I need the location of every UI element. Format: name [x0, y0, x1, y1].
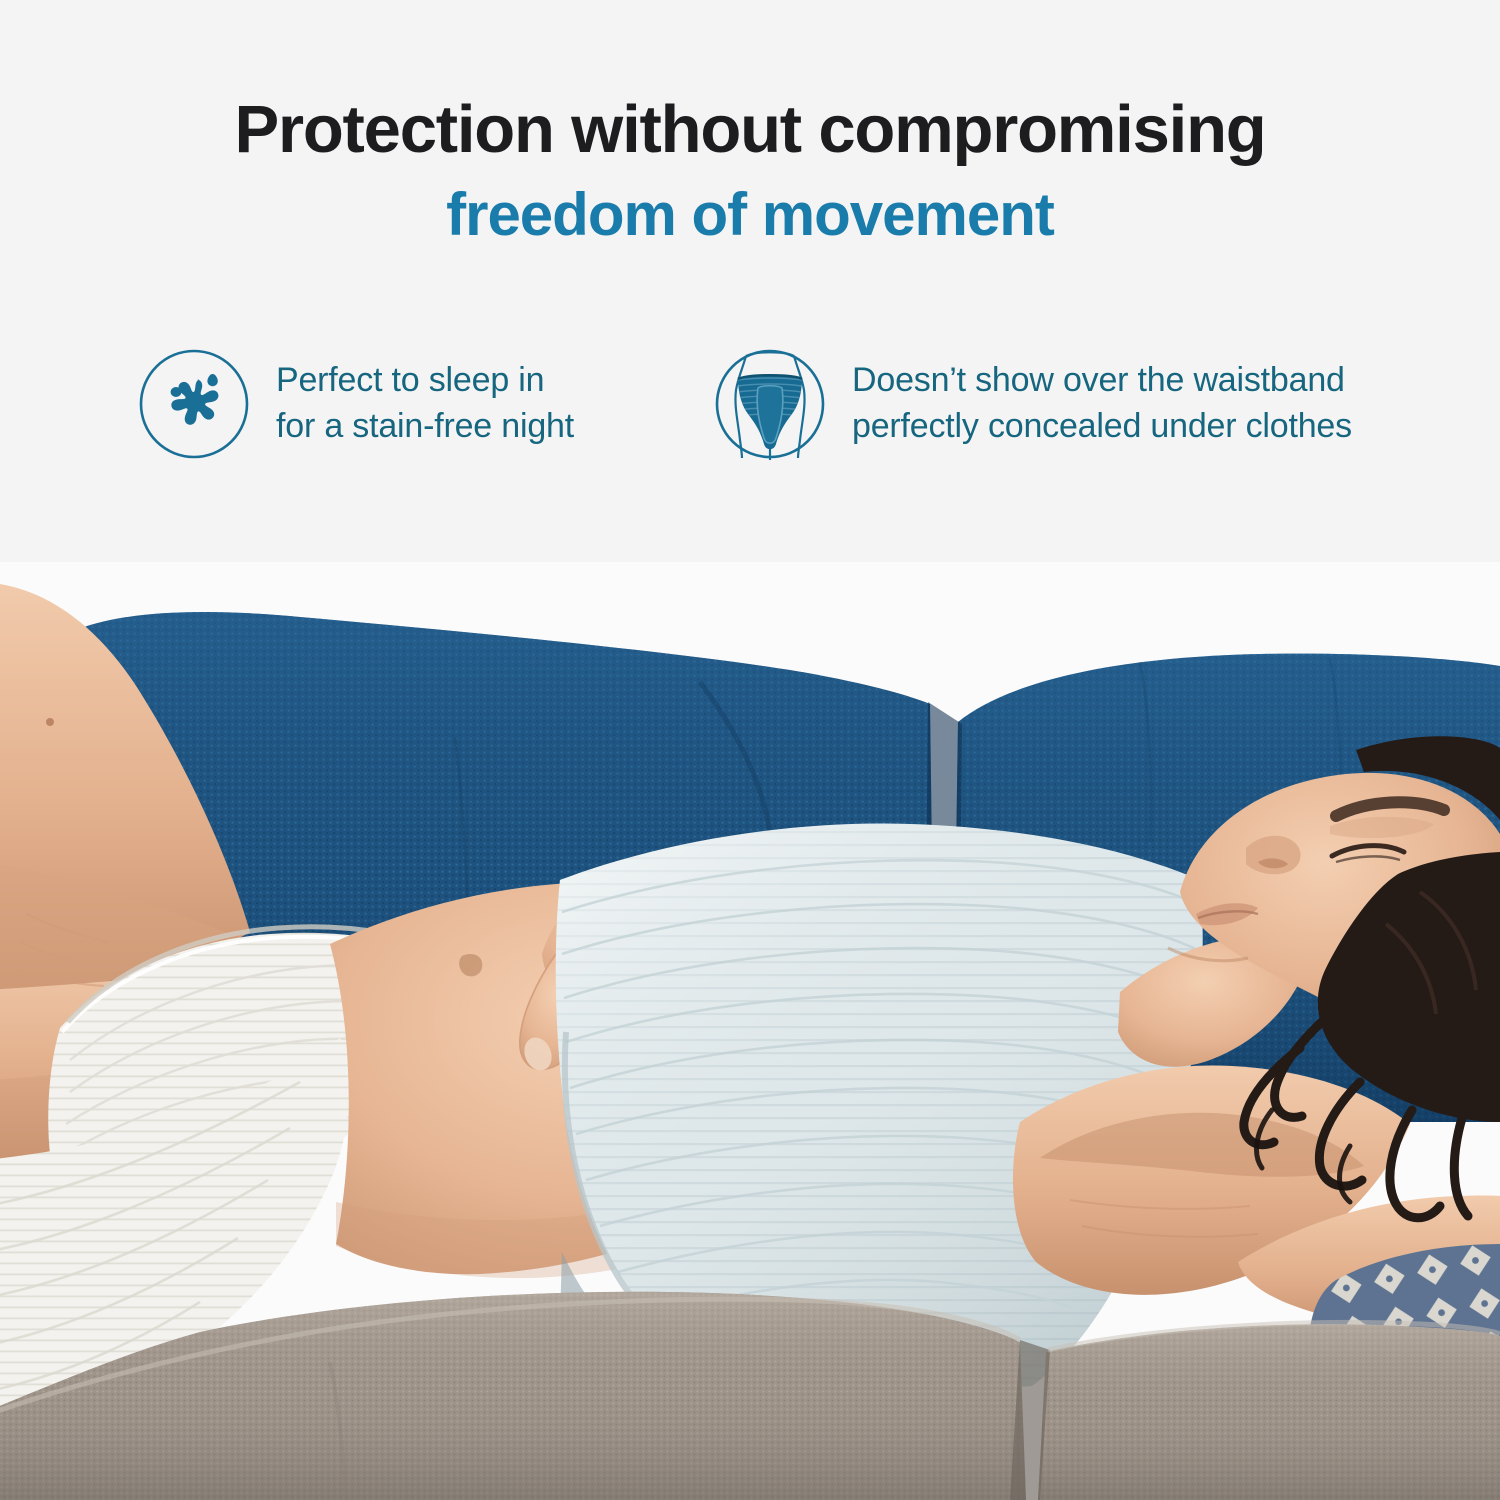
lifestyle-photo [0, 562, 1500, 1500]
headline-line-2: freedom of movement [0, 185, 1500, 245]
absorbent-underwear-icon [714, 348, 826, 460]
feature-label-concealed: Doesn’t show over the waistband perfectl… [852, 358, 1352, 449]
feature-label-sleep: Perfect to sleep in for a stain-free nig… [276, 358, 574, 449]
info-panel: Protection without compromising freedom … [0, 0, 1500, 562]
product-marketing-banner: Protection without compromising freedom … [0, 0, 1500, 1500]
feature-row: Perfect to sleep in for a stain-free nig… [0, 348, 1500, 460]
headline: Protection without compromising freedom … [0, 96, 1500, 245]
headline-line-1: Protection without compromising [0, 96, 1500, 163]
splash-drop-icon [138, 348, 250, 460]
feature-item-sleep: Perfect to sleep in for a stain-free nig… [138, 348, 658, 460]
feature-item-concealed: Doesn’t show over the waistband perfectl… [714, 348, 1434, 460]
